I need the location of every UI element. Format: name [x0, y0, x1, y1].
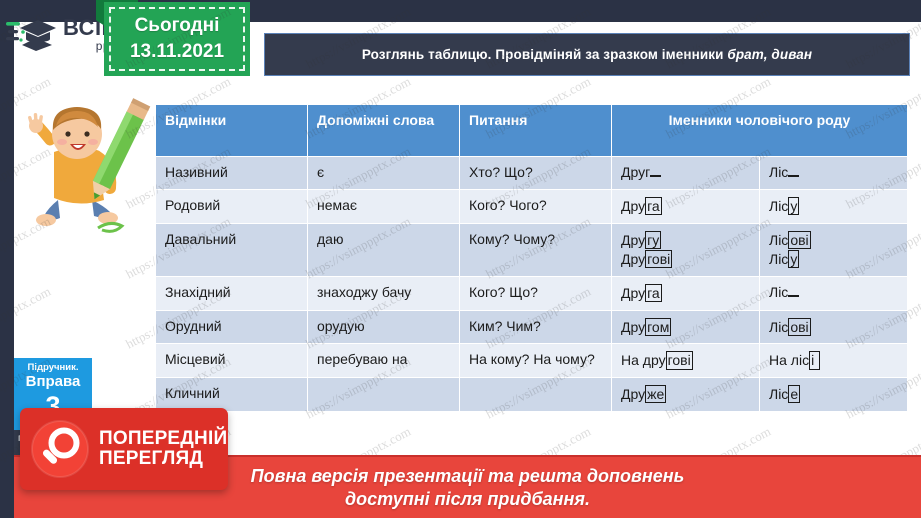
noun-form: Друга: [621, 197, 750, 216]
table-row: КличнийДружеЛісе: [156, 378, 908, 412]
noun-ending-box: ові: [788, 318, 810, 336]
slide-title-bar: Розглянь таблицю. Провідміняй за зразком…: [264, 33, 910, 76]
date-tab-label: Сьогодні: [135, 13, 220, 39]
cell-noun-lis: Лісові: [760, 310, 908, 344]
textbook-label: Підручник.: [14, 362, 92, 373]
noun-form: Лісові: [769, 231, 898, 250]
cell-noun-lis: Лісе: [760, 378, 908, 412]
declension-table-wrapper: Відмінки Допоміжні слова Питання Іменник…: [155, 104, 907, 412]
table-row: Місцевийперебуваю наНа кому? На чому?На …: [156, 344, 908, 378]
preview-line-2: ПЕРЕГЛЯД: [99, 449, 227, 469]
column-header-questions: Питання: [460, 105, 612, 157]
cell-noun-drug: Друга: [612, 276, 760, 310]
noun-ending-box: ові: [788, 231, 810, 249]
cell-question: Кого? Чого?: [460, 189, 612, 223]
cell-case: Називний: [156, 157, 308, 190]
cell-question: Ким? Чим?: [460, 310, 612, 344]
watermark-text: https://vsimppptx.com: [0, 0, 54, 2]
cell-helper: орудую: [308, 310, 460, 344]
column-header-helpers: Допоміжні слова: [308, 105, 460, 157]
date-tab: Сьогодні 13.11.2021: [104, 2, 250, 76]
cell-noun-drug: Друже: [612, 378, 760, 412]
date-tab-date: 13.11.2021: [130, 39, 224, 65]
noun-form: На лісі: [769, 351, 898, 370]
noun-ending-box: [650, 175, 661, 177]
banner-line-1: Повна версія презентації та решта доповн…: [251, 465, 685, 488]
noun-ending-box: е: [788, 385, 800, 403]
noun-ending-box: [788, 175, 799, 177]
cell-question: Кому? Чому?: [460, 223, 612, 276]
cell-case: Кличний: [156, 378, 308, 412]
preview-badge: ПОПЕРЕДНІЙ ПЕРЕГЛЯД: [20, 408, 228, 490]
boy-with-pencil-illustration: [20, 96, 160, 256]
cell-helper: немає: [308, 189, 460, 223]
table-header-row: Відмінки Допоміжні слова Питання Іменник…: [156, 105, 908, 157]
cell-noun-lis: Лісу: [760, 189, 908, 223]
table-row: ДавальнийдаюКому? Чому?ДругуДруговіЛісов…: [156, 223, 908, 276]
noun-form: Ліс: [769, 164, 898, 182]
preview-line-1: ПОПЕРЕДНІЙ: [99, 429, 227, 449]
exercise-label: Вправа: [14, 373, 92, 392]
cell-noun-drug: Друга: [612, 189, 760, 223]
magnifier-icon: [29, 418, 91, 480]
watermark-text: https://vsimppptx.com: [843, 0, 921, 2]
banner-line-2: доступні після придбання.: [345, 488, 590, 511]
cell-question: На кому? На чому?: [460, 344, 612, 378]
noun-ending-box: і: [809, 351, 820, 369]
table-row: РодовийнемаєКого? Чого?ДругаЛісу: [156, 189, 908, 223]
cell-noun-lis: ЛісовіЛісу: [760, 223, 908, 276]
cell-question: [460, 378, 612, 412]
watermark-text: https://vsimppptx.com: [303, 0, 414, 2]
cell-noun-lis: На лісі: [760, 344, 908, 378]
cell-noun-drug: Друг: [612, 157, 760, 190]
preview-badge-text: ПОПЕРЕДНІЙ ПЕРЕГЛЯД: [99, 429, 227, 469]
noun-form: Ліс: [769, 284, 898, 302]
cell-helper: є: [308, 157, 460, 190]
column-header-nouns: Іменники чоловічого роду: [612, 105, 908, 157]
noun-form: Лісові: [769, 318, 898, 337]
noun-form: Друг: [621, 164, 750, 182]
cell-question: Хто? Що?: [460, 157, 612, 190]
noun-ending-box: гом: [645, 318, 671, 336]
cell-noun-drug: На другові: [612, 344, 760, 378]
noun-form: На другові: [621, 351, 750, 370]
table-row: ОруднийорудуюКим? Чим?ДругомЛісові: [156, 310, 908, 344]
watermark-text: https://vsimppptx.com: [483, 0, 594, 2]
declension-table: Відмінки Допоміжні слова Питання Іменник…: [155, 104, 908, 412]
noun-ending-box: гу: [645, 231, 661, 249]
title-italic: брат, диван: [727, 47, 812, 62]
noun-ending-box: гові: [645, 250, 672, 268]
noun-form: Лісу: [769, 197, 898, 216]
noun-ending-box: [788, 295, 799, 297]
cell-helper: [308, 378, 460, 412]
cell-question: Кого? Що?: [460, 276, 612, 310]
cell-noun-lis: Ліс: [760, 276, 908, 310]
noun-ending-box: у: [788, 197, 799, 215]
noun-form: Другові: [621, 250, 750, 269]
cell-helper: даю: [308, 223, 460, 276]
noun-form: Другу: [621, 231, 750, 250]
presentation-slide: ВСІМ pptx Сьогодні 13.11.2021 Розглянь т…: [0, 0, 921, 518]
graduation-cap-icon: [6, 14, 58, 54]
noun-ending-box: же: [645, 385, 666, 403]
noun-ending-box: гові: [666, 351, 693, 369]
noun-ending-box: га: [645, 284, 662, 302]
noun-form: Другом: [621, 318, 750, 337]
noun-form: Друга: [621, 284, 750, 303]
table-body: НазивнийєХто? Що?ДругЛісРодовийнемаєКого…: [156, 157, 908, 412]
noun-ending-box: у: [788, 250, 799, 268]
column-header-cases: Відмінки: [156, 105, 308, 157]
cell-helper: перебуваю на: [308, 344, 460, 378]
noun-form: Друже: [621, 385, 750, 404]
noun-form: Лісу: [769, 250, 898, 269]
page-title: Розглянь таблицю. Провідміняй за зразком…: [362, 47, 812, 62]
cell-case: Давальний: [156, 223, 308, 276]
cell-noun-drug: Другом: [612, 310, 760, 344]
cell-case: Орудний: [156, 310, 308, 344]
cell-noun-drug: ДругуДругові: [612, 223, 760, 276]
cell-noun-lis: Ліс: [760, 157, 908, 190]
table-row: Знахіднийзнаходжу бачуКого? Що?ДругаЛіс: [156, 276, 908, 310]
cell-case: Знахідний: [156, 276, 308, 310]
title-plain: Розглянь таблицю. Провідміняй за зразком…: [362, 47, 728, 62]
cell-case: Родовий: [156, 189, 308, 223]
noun-ending-box: га: [645, 197, 662, 215]
cell-case: Місцевий: [156, 344, 308, 378]
noun-form: Лісе: [769, 385, 898, 404]
table-row: НазивнийєХто? Що?ДругЛіс: [156, 157, 908, 190]
cell-helper: знаходжу бачу: [308, 276, 460, 310]
watermark-text: https://vsimppptx.com: [663, 0, 774, 2]
